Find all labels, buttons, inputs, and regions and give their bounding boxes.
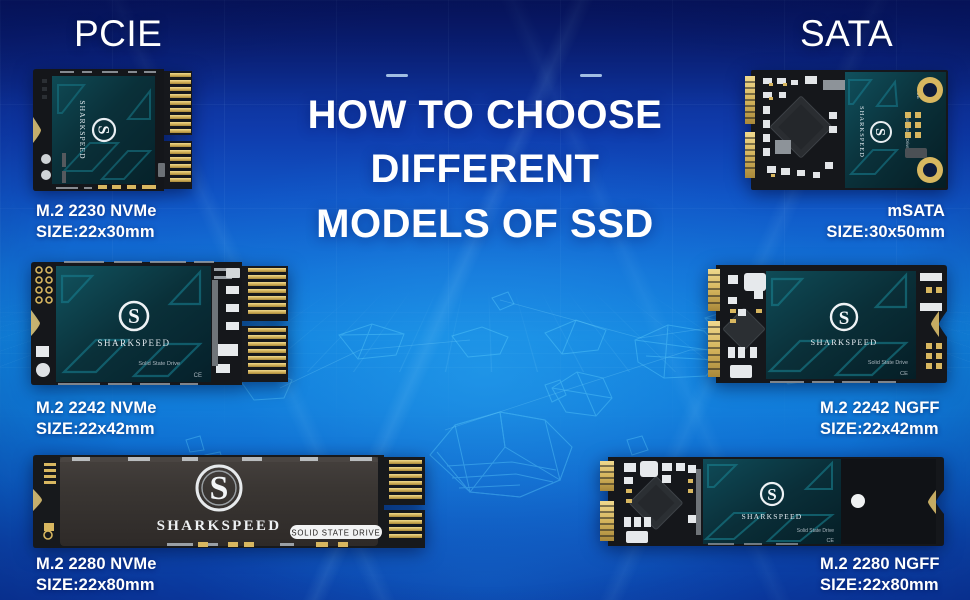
title-line-3: MODELS OF SSD bbox=[255, 197, 715, 251]
ssd-image-2230-nvme: S SHARKSPEED bbox=[32, 67, 195, 193]
title-tick-left bbox=[386, 74, 408, 77]
page-title: HOW TO CHOOSE DIFFERENT MODELS OF SSD bbox=[255, 88, 715, 251]
svg-text:SHARKSPEED: SHARKSPEED bbox=[742, 512, 803, 521]
ssd-image-msata: S SHARKSPEED Solid State Drive CE bbox=[745, 70, 948, 190]
size-label: SIZE:30x50mm bbox=[826, 222, 945, 243]
size-label: SIZE:22x80mm bbox=[36, 575, 157, 596]
model-label: M.2 2280 NGFF bbox=[820, 554, 940, 575]
size-label: SIZE:22x42mm bbox=[820, 419, 940, 440]
caption-2280-nvme: M.2 2280 NVMe SIZE:22x80mm bbox=[36, 554, 157, 596]
caption-2230-nvme: M.2 2230 NVMe SIZE:22x30mm bbox=[36, 201, 157, 243]
ssd-image-2280-nvme: S SHARKSPEED SOLID STATE DRIVE bbox=[32, 453, 425, 550]
svg-text:SOLID STATE DRIVE: SOLID STATE DRIVE bbox=[291, 529, 380, 538]
svg-text:S: S bbox=[872, 128, 887, 136]
model-label: mSATA bbox=[826, 201, 945, 222]
ssd-image-2280-ngff: S SHARKSPEED Solid State Drive CE bbox=[600, 455, 945, 548]
caption-2280-ngff: M.2 2280 NGFF SIZE:22x80mm bbox=[820, 554, 940, 596]
svg-text:S: S bbox=[128, 304, 140, 328]
svg-text:S: S bbox=[839, 308, 850, 329]
svg-text:SHARKSPEED: SHARKSPEED bbox=[858, 106, 865, 158]
svg-text:CE: CE bbox=[194, 373, 202, 379]
svg-text:SHARKSPEED: SHARKSPEED bbox=[157, 518, 282, 534]
svg-text:Solid State Drive: Solid State Drive bbox=[868, 360, 908, 366]
svg-text:SHARKSPEED: SHARKSPEED bbox=[811, 338, 878, 347]
svg-text:Solid State Drive: Solid State Drive bbox=[797, 528, 834, 534]
size-label: SIZE:22x30mm bbox=[36, 222, 157, 243]
ssd-image-2242-nvme: S SHARKSPEED Solid State Drive CE bbox=[30, 260, 290, 387]
title-tick-right bbox=[580, 74, 602, 77]
model-label: M.2 2280 NVMe bbox=[36, 554, 157, 575]
svg-text:S: S bbox=[210, 470, 229, 507]
caption-msata: mSATA SIZE:30x50mm bbox=[826, 201, 945, 243]
title-line-1: HOW TO CHOOSE bbox=[255, 88, 715, 142]
svg-text:SHARKSPEED: SHARKSPEED bbox=[97, 338, 170, 348]
ssd-image-2242-ngff: S SHARKSPEED Solid State Drive CE bbox=[708, 263, 948, 385]
model-label: M.2 2242 NGFF bbox=[820, 398, 940, 419]
size-label: SIZE:22x42mm bbox=[36, 419, 157, 440]
caption-2242-ngff: M.2 2242 NGFF SIZE:22x42mm bbox=[820, 398, 940, 440]
svg-text:CE: CE bbox=[900, 371, 908, 377]
model-label: M.2 2230 NVMe bbox=[36, 201, 157, 222]
svg-text:SHARKSPEED: SHARKSPEED bbox=[78, 100, 87, 159]
infographic-canvas: PCIE SATA HOW TO CHOOSE DIFFERENT MODELS… bbox=[0, 0, 970, 600]
svg-text:Solid State Drive: Solid State Drive bbox=[138, 361, 180, 367]
svg-text:S: S bbox=[767, 485, 776, 504]
model-label: M.2 2242 NVMe bbox=[36, 398, 157, 419]
svg-text:CE: CE bbox=[827, 538, 835, 544]
title-line-2: DIFFERENT bbox=[255, 142, 715, 196]
svg-text:S: S bbox=[95, 126, 112, 135]
column-header-pcie: PCIE bbox=[74, 13, 162, 55]
column-header-sata: SATA bbox=[800, 13, 893, 55]
size-label: SIZE:22x80mm bbox=[820, 575, 940, 596]
caption-2242-nvme: M.2 2242 NVMe SIZE:22x42mm bbox=[36, 398, 157, 440]
